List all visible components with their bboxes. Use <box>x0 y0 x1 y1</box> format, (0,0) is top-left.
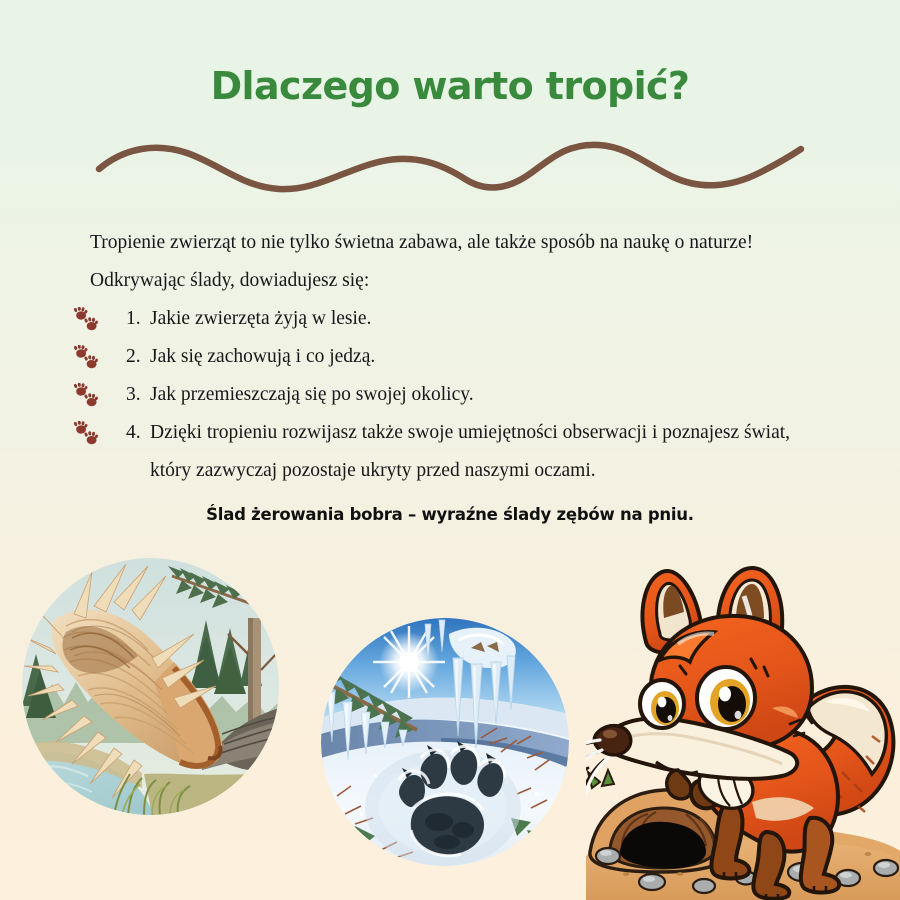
list-item-label: Jakie zwierzęta żyją w lesie. <box>150 308 371 329</box>
paw-prints-icon <box>72 345 102 371</box>
list-item-continuation: który zazwyczaj pozostaje ukryty przed n… <box>126 452 836 490</box>
list-item: 2.Jak się zachowują i co jedzą. <box>66 338 836 376</box>
list-item-label: Jak się zachowują i co jedzą. <box>150 346 375 367</box>
list-item: 1.Jakie zwierzęta żyją w lesie. <box>66 300 836 338</box>
paw-prints-icon <box>72 307 102 333</box>
body-copy: Tropienie zwierząt to nie tylko świetna … <box>66 224 836 490</box>
paw-prints-icon <box>72 383 102 409</box>
list-item: 4.Dzięki tropieniu rozwijasz także swoje… <box>66 414 836 490</box>
list-item: 3.Jak przemieszczają się po swojej okoli… <box>66 376 836 414</box>
list-item-number: 3. <box>126 376 150 414</box>
poster-canvas: Dlaczego warto tropić? Tropienie zwierzą… <box>0 0 900 900</box>
benefits-list: 1.Jakie zwierzęta żyją w lesie. <box>66 300 836 490</box>
lead-in-paragraph: Odkrywając ślady, dowiadujesz się: <box>90 262 836 300</box>
list-item-number: 4. <box>126 414 150 452</box>
paw-prints-icon <box>72 421 102 447</box>
wavy-line-divider-icon <box>95 133 805 195</box>
list-item-label: Dzięki tropieniu rozwijasz także swoje u… <box>150 422 790 443</box>
fox-at-burrow-illustration <box>586 556 900 900</box>
list-item-number: 2. <box>126 338 150 376</box>
beaver-gnawed-tree-photo <box>22 558 279 815</box>
intro-paragraph: Tropienie zwierząt to nie tylko świetna … <box>90 224 836 262</box>
list-item-label: Jak przemieszczają się po swojej okolicy… <box>150 384 474 405</box>
image-caption: Ślad żerowania bobra – wyraźne ślady zęb… <box>0 505 900 524</box>
list-item-number: 1. <box>126 300 150 338</box>
page-title: Dlaczego warto tropić? <box>0 64 900 108</box>
animal-track-in-snow-photo <box>321 618 569 866</box>
